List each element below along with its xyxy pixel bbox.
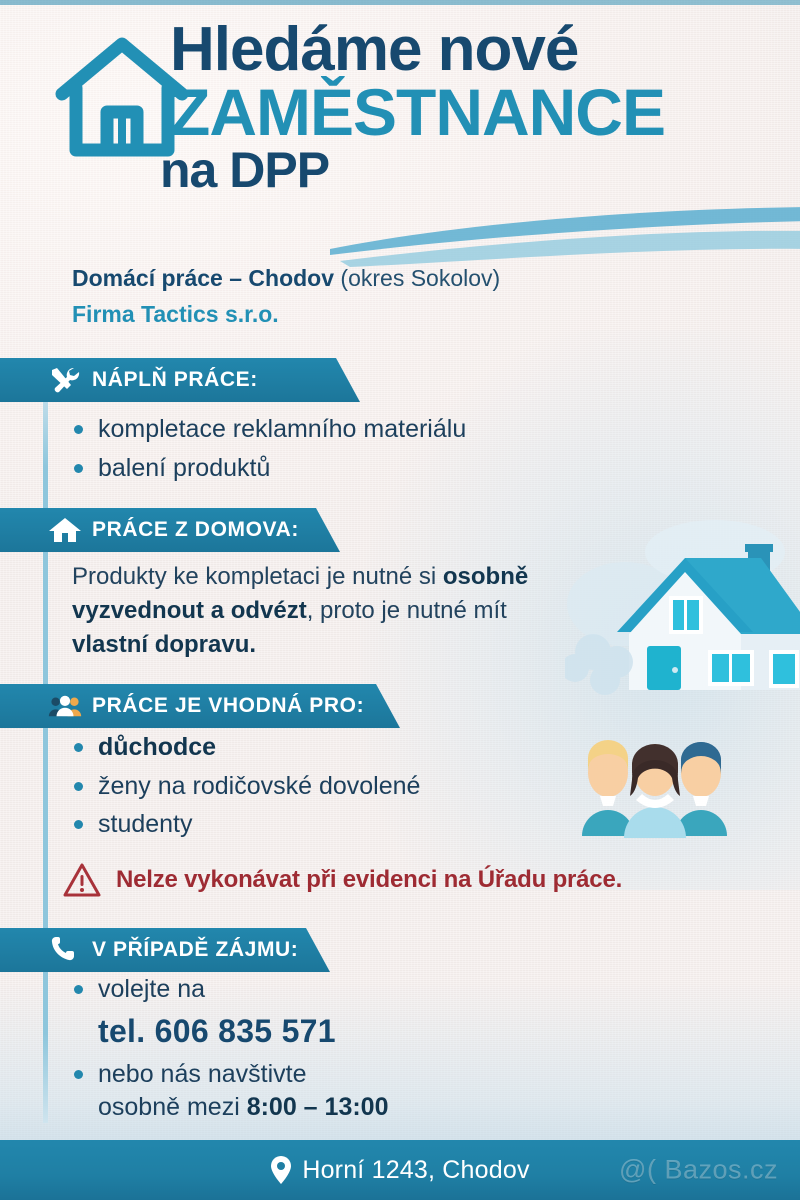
tools-icon — [48, 366, 82, 394]
title-line-1: Hledáme nové — [170, 18, 790, 81]
title-line-3: na DPP — [160, 145, 790, 196]
warning-notice: Nelze vykonávat při evidenci na Úřadu pr… — [62, 862, 622, 898]
para-part-1: Produkty ke kompletaci je nutné si — [72, 563, 443, 590]
vertical-accent-rule — [43, 378, 48, 1123]
list-item-call: volejte na tel. 606 835 571 — [72, 972, 592, 1053]
suitable-for-list: důchodce ženy na rodičovské dovolené stu… — [72, 730, 592, 842]
home-work-paragraph: Produkty ke kompletaci je nutné si osobn… — [72, 560, 542, 662]
home-icon — [48, 516, 82, 544]
section-body-naplne-prace: kompletace reklamního materiálu balení p… — [72, 412, 592, 489]
people-illustration — [562, 728, 747, 848]
section-body-kontakt: volejte na tel. 606 835 571 nebo nás nav… — [72, 972, 592, 1129]
job-ad-poster: Hledáme nové ZAMĚSTNANCE na DPP Domácí p… — [0, 0, 800, 1200]
duties-list: kompletace reklamního materiálu balení p… — [72, 412, 592, 485]
section-banner-label: V PŘÍPADĚ ZÁJMU: — [92, 938, 298, 962]
warning-triangle-icon — [62, 862, 102, 898]
section-banner-kontakt: V PŘÍPADĚ ZÁJMU: — [0, 928, 330, 972]
footer-address: Horní 1243, Chodov — [302, 1156, 529, 1185]
section-banner-naplne-prace: NÁPLŇ PRÁCE: — [0, 358, 360, 402]
list-item-visit: nebo nás navštivte osobně mezi 8:00 – 13… — [72, 1057, 592, 1125]
visit-label: nebo nás navštivte — [98, 1060, 306, 1088]
map-pin-icon — [270, 1155, 292, 1185]
list-item: ženy na rodičovské dovolené — [72, 769, 592, 804]
title-line-2: ZAMĚSTNANCE — [170, 79, 790, 146]
location-line: Domácí práce – Chodov (okres Sokolov) — [72, 262, 732, 295]
section-banner-label: NÁPLŇ PRÁCE: — [92, 368, 258, 392]
para-bold-2: vlastní dopravu. — [72, 631, 256, 658]
list-item: balení produktů — [72, 451, 592, 486]
phone-number[interactable]: tel. 606 835 571 — [98, 1009, 592, 1053]
house-illustration — [565, 512, 800, 697]
location-bold: Domácí práce – Chodov — [72, 265, 334, 291]
bazos-watermark: @( Bazos.cz — [619, 1155, 778, 1186]
warning-text: Nelze vykonávat při evidenci na Úřadu pr… — [116, 866, 622, 894]
section-banner-prace-z-domova: PRÁCE Z DOMOVA: — [0, 508, 340, 552]
list-item: kompletace reklamního materiálu — [72, 412, 592, 447]
para-part-2: , proto je nutné mít — [307, 597, 507, 624]
company-name: Firma Tactics s.r.o. — [72, 297, 732, 332]
opening-hours-line: osobně mezi 8:00 – 13:00 — [98, 1091, 592, 1125]
hours-value: 8:00 – 13:00 — [247, 1093, 389, 1121]
section-body-prace-z-domova: Produkty ke kompletaci je nutné si osobn… — [72, 560, 542, 662]
contact-list: volejte na tel. 606 835 571 nebo nás nav… — [72, 972, 592, 1125]
section-body-vhodna-pro: důchodce ženy na rodičovské dovolené stu… — [72, 730, 592, 846]
section-banner-label: PRÁCE JE VHODNÁ PRO: — [92, 694, 364, 718]
phone-icon — [48, 936, 82, 964]
poster-header: Hledáme nové ZAMĚSTNANCE na DPP — [0, 0, 800, 250]
hours-prefix: osobně mezi — [98, 1093, 247, 1121]
footer-bar: Horní 1243, Chodov @( Bazos.cz — [0, 1140, 800, 1200]
list-item: studenty — [72, 807, 592, 842]
section-banner-vhodna-pro: PRÁCE JE VHODNÁ PRO: — [0, 684, 400, 728]
footer-address-group: Horní 1243, Chodov — [270, 1155, 529, 1185]
call-label: volejte na — [98, 975, 205, 1003]
subtitle-block: Domácí práce – Chodov (okres Sokolov) Fi… — [72, 262, 732, 332]
people-group-icon — [48, 692, 82, 720]
location-district: (okres Sokolov) — [334, 265, 500, 291]
page-title: Hledáme nové ZAMĚSTNANCE na DPP — [170, 18, 790, 196]
section-banner-label: PRÁCE Z DOMOVA: — [92, 518, 299, 542]
list-item: důchodce — [72, 730, 592, 765]
